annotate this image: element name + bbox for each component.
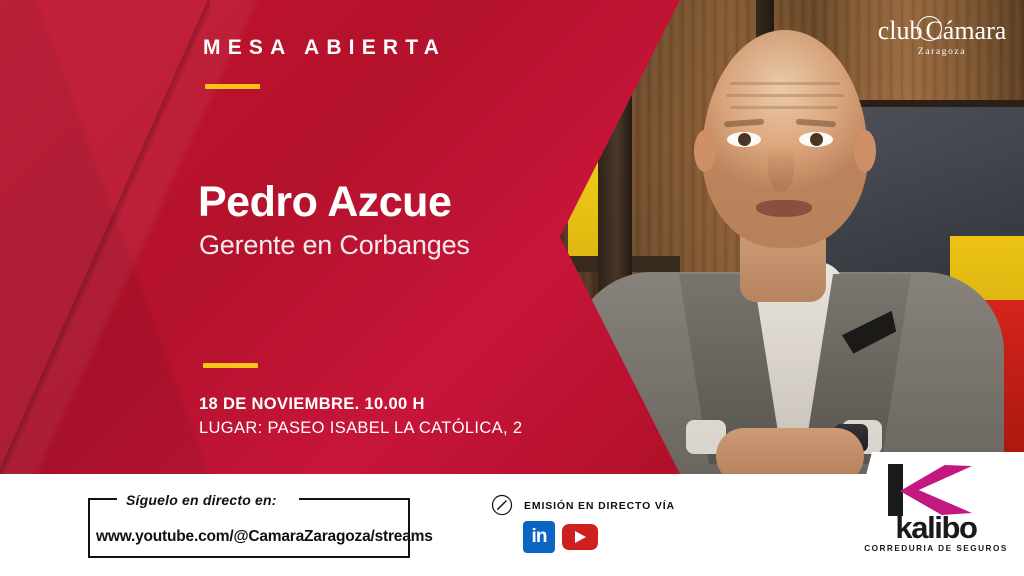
club-camara-prefix: club	[878, 16, 923, 45]
event-kicker: MESA ABIERTA	[203, 36, 446, 60]
mouth	[756, 200, 812, 217]
kalibo-sponsor-panel: kalibo CORREDURIA DE SEGUROS	[840, 452, 1024, 576]
linkedin-glyph: in	[523, 521, 555, 553]
eye-right	[799, 132, 833, 147]
eye-left	[727, 132, 761, 147]
club-camara-logo: clubCámara Zaragoza	[872, 18, 1012, 57]
accent-rule-middle	[203, 363, 258, 368]
club-camara-suffix: ámara	[943, 16, 1007, 45]
kalibo-k-stem	[888, 464, 903, 516]
broadcast-pen-icon	[491, 494, 513, 516]
event-promo-banner: MESA ABIERTA Pedro Azcue Gerente en Corb…	[0, 0, 1024, 576]
speaker-figure	[590, 24, 990, 474]
speaker-role: Gerente en Corbanges	[199, 230, 470, 261]
club-camara-wordmark: clubCámara	[878, 18, 1007, 44]
youtube-icon[interactable]	[562, 524, 598, 550]
kalibo-tagline: CORREDURIA DE SEGUROS	[862, 544, 1010, 553]
event-date-time: 18 DE NOVIEMBRE. 10.00 H	[199, 395, 425, 414]
club-camara-c-badge: C	[922, 18, 942, 44]
forehead-line	[726, 94, 844, 97]
ear-left	[694, 130, 716, 172]
forehead-line	[730, 106, 838, 109]
linkedin-icon[interactable]: in	[523, 521, 555, 553]
ear-right	[854, 130, 876, 172]
event-location: LUGAR: PASEO ISABEL LA CATÓLICA, 2	[199, 419, 522, 438]
clasped-hands	[716, 428, 864, 474]
club-camara-city: Zaragoza	[872, 47, 1012, 57]
nose	[768, 144, 794, 192]
kalibo-chevron-icon	[900, 465, 972, 515]
broadcast-label: EMISIÓN EN DIRECTO VÍA	[524, 500, 675, 512]
youtube-url[interactable]: www.youtube.com/@CamaraZaragoza/streams	[96, 528, 433, 546]
forehead-line	[730, 82, 840, 85]
follow-label: Síguelo en directo en:	[126, 492, 277, 508]
kalibo-wordmark: kalibo	[862, 512, 1010, 543]
kalibo-k-mark-icon	[874, 464, 994, 516]
speaker-name: Pedro Azcue	[198, 180, 451, 225]
accent-rule-top	[205, 84, 260, 89]
